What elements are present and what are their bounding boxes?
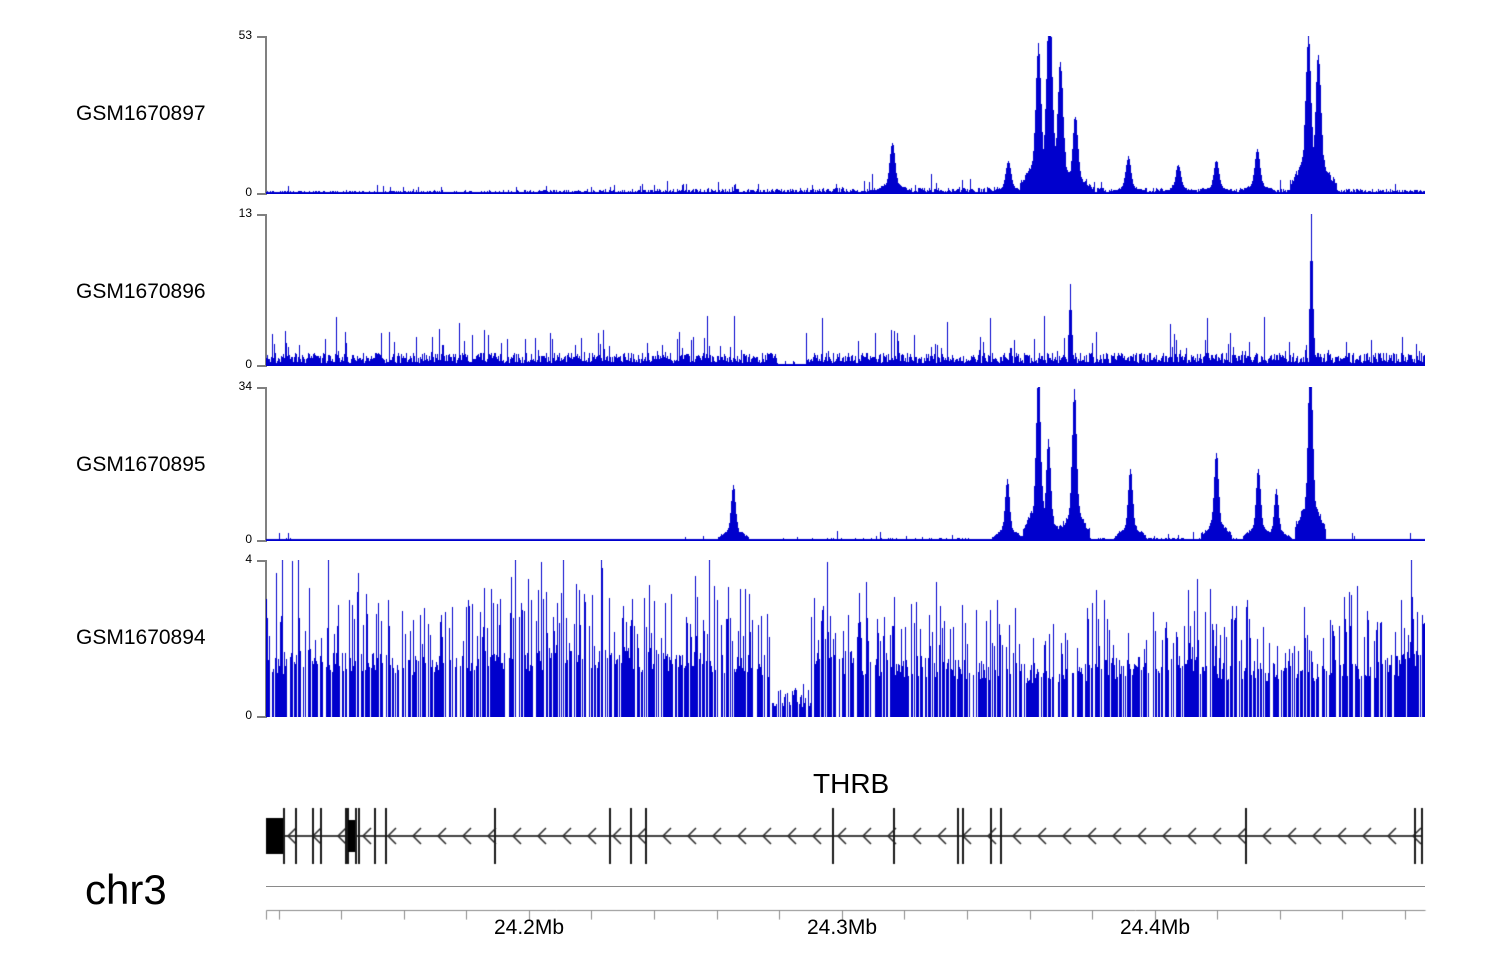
ruler-separator-line <box>266 886 1425 887</box>
ruler-tick-label: 24.3Mb <box>807 916 877 940</box>
ruler-tick-label: 24.2Mb <box>494 916 564 940</box>
gene-name-label[interactable]: THRB <box>813 768 889 800</box>
axis-min-gsm1670895: 0 <box>216 532 252 546</box>
gene-model-track[interactable] <box>256 800 1436 872</box>
track-label-gsm1670894: GSM1670894 <box>76 626 206 650</box>
axis-max-gsm1670894: 4 <box>216 552 252 566</box>
chromosome-label: chr3 <box>85 866 167 914</box>
axis-max-gsm1670895: 34 <box>216 379 252 393</box>
track-label-gsm1670897: GSM1670897 <box>76 102 206 126</box>
signal-plot-gsm1670894[interactable] <box>266 560 1425 717</box>
axis-min-gsm1670896: 0 <box>216 357 252 371</box>
track-label-gsm1670895: GSM1670895 <box>76 453 206 477</box>
axis-min-gsm1670897: 0 <box>216 185 252 199</box>
axis-min-gsm1670894: 0 <box>216 708 252 722</box>
axis-max-gsm1670896: 13 <box>216 206 252 220</box>
genome-browser-viewer[interactable]: GSM1670897 53 0 GSM1670896 13 0 GSM16708… <box>0 0 1500 980</box>
signal-plot-gsm1670896[interactable] <box>266 214 1425 366</box>
track-label-gsm1670896: GSM1670896 <box>76 280 206 304</box>
signal-plot-gsm1670895[interactable] <box>266 387 1425 541</box>
ruler-tick-label: 24.4Mb <box>1120 916 1190 940</box>
signal-plot-gsm1670897[interactable] <box>266 36 1425 194</box>
axis-max-gsm1670897: 53 <box>216 28 252 42</box>
